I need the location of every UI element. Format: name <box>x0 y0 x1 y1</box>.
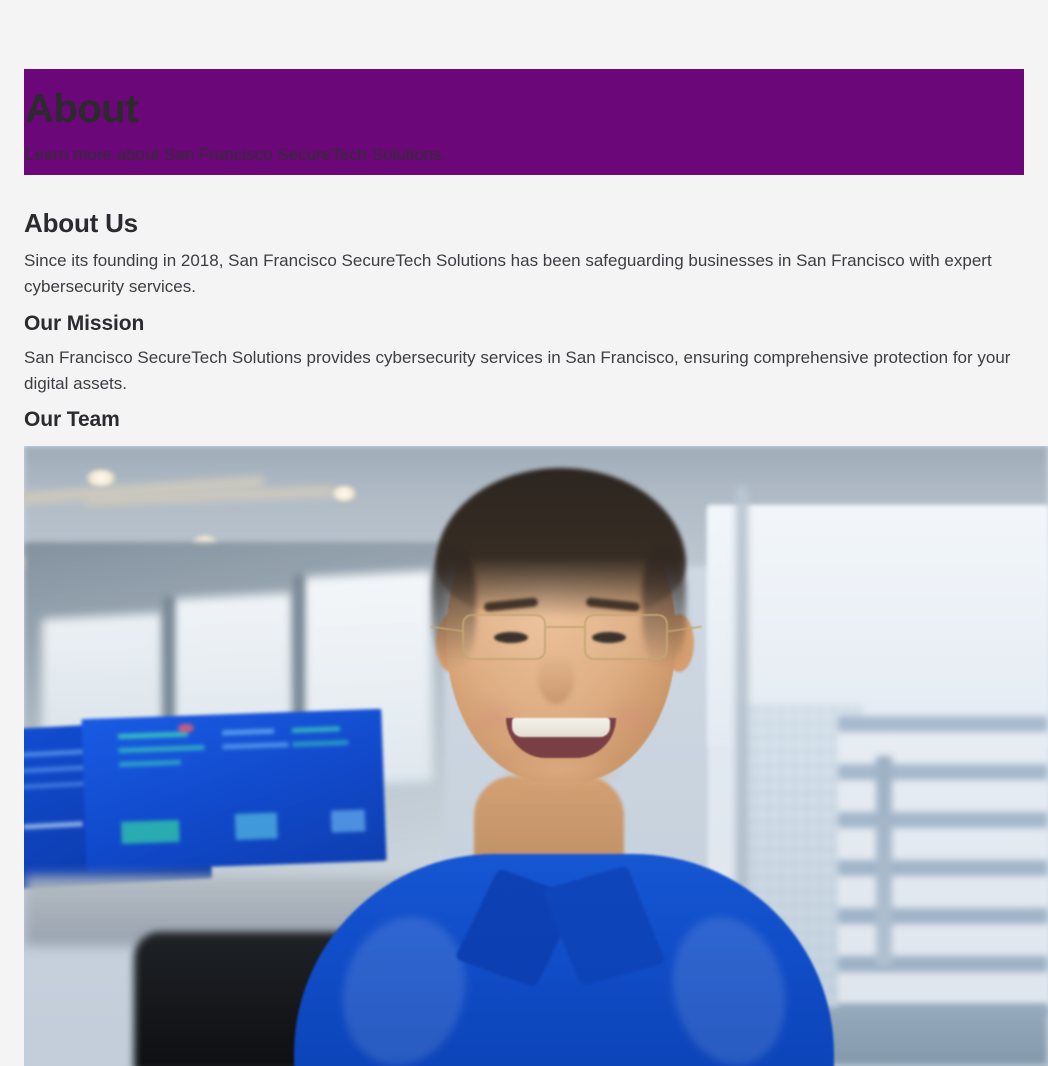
page-subtitle: Learn more about San Francisco SecureTec… <box>25 145 1024 165</box>
our-team-heading: Our Team <box>24 408 1024 432</box>
photo-team-member <box>324 446 794 1066</box>
page-hero-banner: About Learn more about San Francisco Sec… <box>24 69 1024 175</box>
photo-eyeglasses <box>462 614 670 666</box>
about-us-heading: About Us <box>24 209 1024 239</box>
photo-skyline-building <box>838 716 1048 1016</box>
photo-skyline-spire <box>876 756 892 966</box>
main-content: About Us Since its founding in 2018, San… <box>24 175 1024 1066</box>
photo-window-ledge <box>808 1006 1048 1066</box>
photo-lens <box>584 614 668 660</box>
page-title: About <box>25 89 1024 129</box>
photo-glasses-bridge <box>546 626 584 628</box>
photo-lens <box>462 614 546 660</box>
hero-content: About Learn more about San Francisco Sec… <box>24 69 1024 165</box>
our-mission-paragraph: San Francisco SecureTech Solutions provi… <box>24 345 1024 397</box>
team-photo-image <box>24 446 1048 1066</box>
page-container: About Learn more about San Francisco Sec… <box>0 69 1048 1066</box>
about-us-paragraph: Since its founding in 2018, San Francisc… <box>24 248 1024 300</box>
photo-teeth <box>512 718 610 737</box>
team-photo-figure <box>24 446 1048 1066</box>
our-mission-heading: Our Mission <box>24 312 1024 336</box>
